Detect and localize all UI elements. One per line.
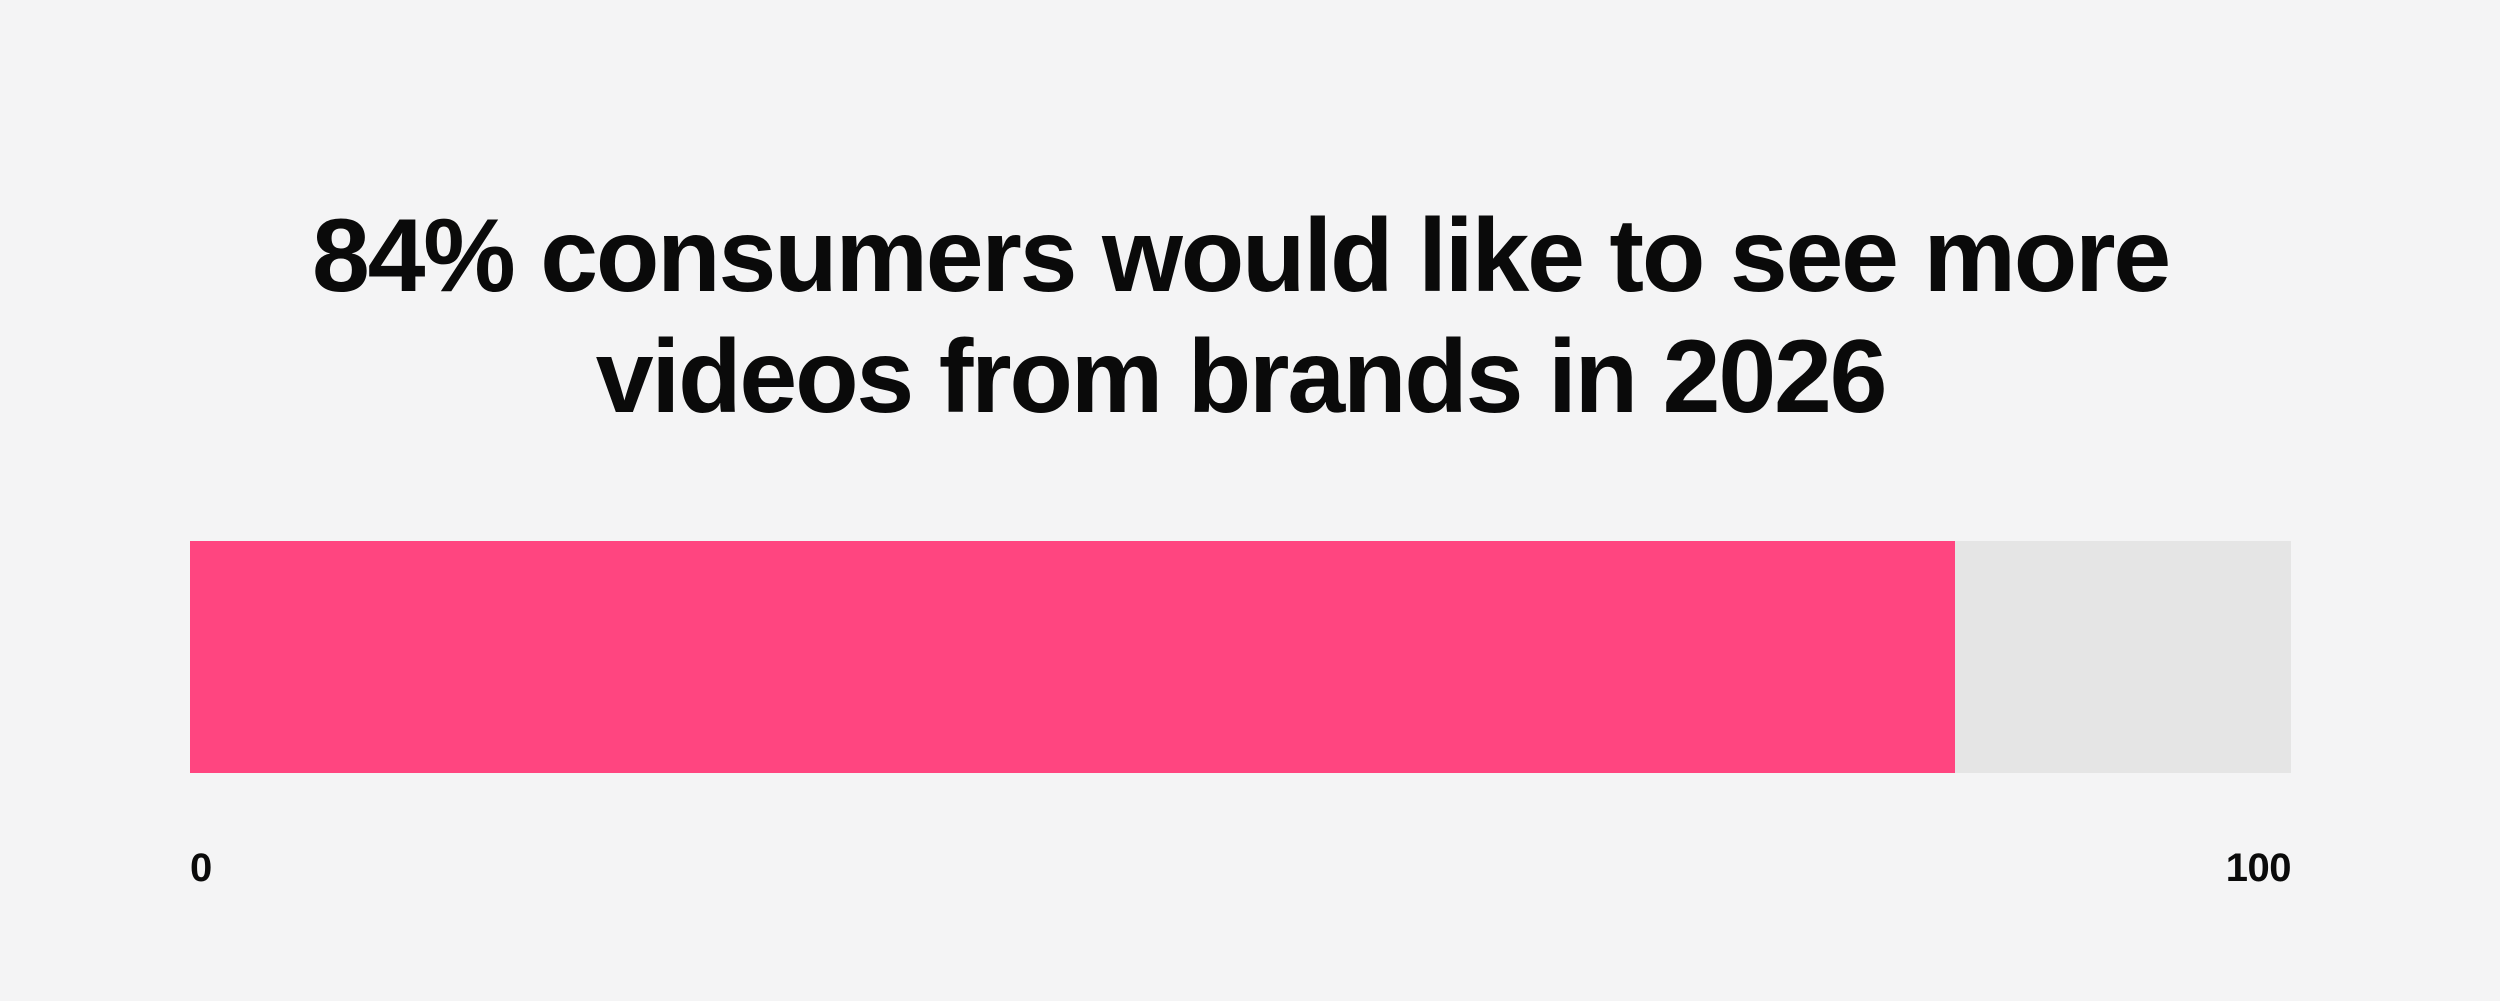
page-title-line-1: 84% consumers would like to see more bbox=[190, 196, 2291, 317]
axis-labels: 0 100 bbox=[190, 848, 2291, 888]
bar-chart bbox=[190, 541, 2291, 773]
axis-max-label: 100 bbox=[2226, 848, 2291, 888]
page-title-line-2: videos from brands in 2026 bbox=[190, 317, 2291, 438]
bar-fill bbox=[190, 541, 1955, 773]
infographic-card: 84% consumers would like to see more vid… bbox=[0, 0, 2500, 1001]
axis-min-label: 0 bbox=[190, 848, 212, 888]
bar-track bbox=[190, 541, 2291, 773]
page-title: 84% consumers would like to see more vid… bbox=[190, 196, 2291, 437]
